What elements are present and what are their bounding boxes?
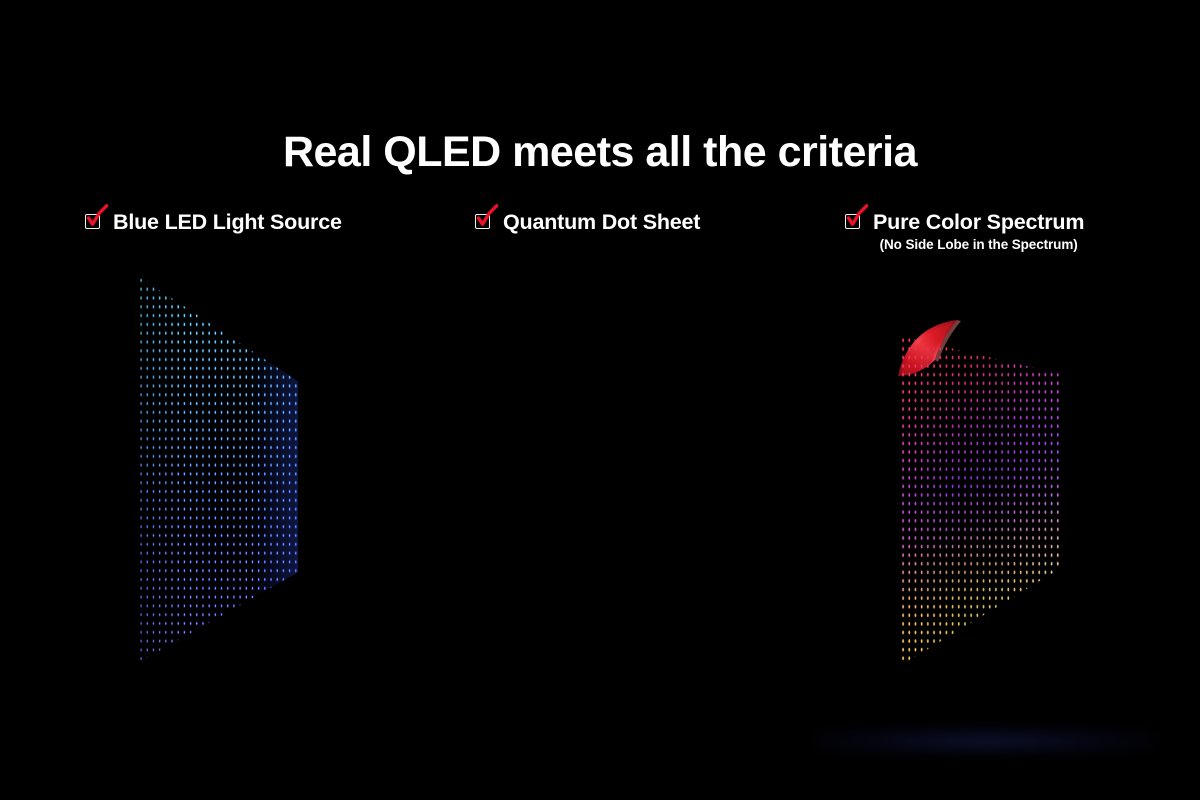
qled-criteria-slide: Real QLED meets all the criteria Blue LE… xyxy=(0,0,1200,800)
criterion-column-quantum-dot: Quantum Dot Sheet xyxy=(390,0,790,800)
blue-led-dot-grid xyxy=(138,276,298,666)
check-mark-icon xyxy=(84,205,110,231)
criterion-subtitle: (No Side Lobe in the Spectrum) xyxy=(873,235,1084,255)
check-mark-icon xyxy=(844,205,870,231)
blue-led-panel xyxy=(138,276,298,666)
criterion-text-pure-color: Pure Color Spectrum (No Side Lobe in the… xyxy=(873,209,1084,255)
criterion-title: Quantum Dot Sheet xyxy=(503,210,700,234)
criterion-title: Pure Color Spectrum xyxy=(873,210,1084,234)
check-mark-icon xyxy=(474,205,500,231)
checkbox-checked-icon[interactable] xyxy=(85,214,104,233)
criterion-label-blue-led: Blue LED Light Source xyxy=(85,209,342,235)
criterion-column-blue-led: Blue LED Light Source xyxy=(0,0,400,800)
checkbox-checked-icon[interactable] xyxy=(475,214,494,233)
criterion-text-quantum-dot: Quantum Dot Sheet xyxy=(503,209,700,235)
criterion-label-pure-color: Pure Color Spectrum (No Side Lobe in the… xyxy=(845,209,1084,255)
criterion-label-quantum-dot: Quantum Dot Sheet xyxy=(475,209,700,235)
criterion-column-pure-color: Pure Color Spectrum (No Side Lobe in the… xyxy=(790,0,1190,800)
criterion-title: Blue LED Light Source xyxy=(113,210,342,234)
checkbox-checked-icon[interactable] xyxy=(845,214,864,233)
criterion-text-blue-led: Blue LED Light Source xyxy=(113,209,342,235)
